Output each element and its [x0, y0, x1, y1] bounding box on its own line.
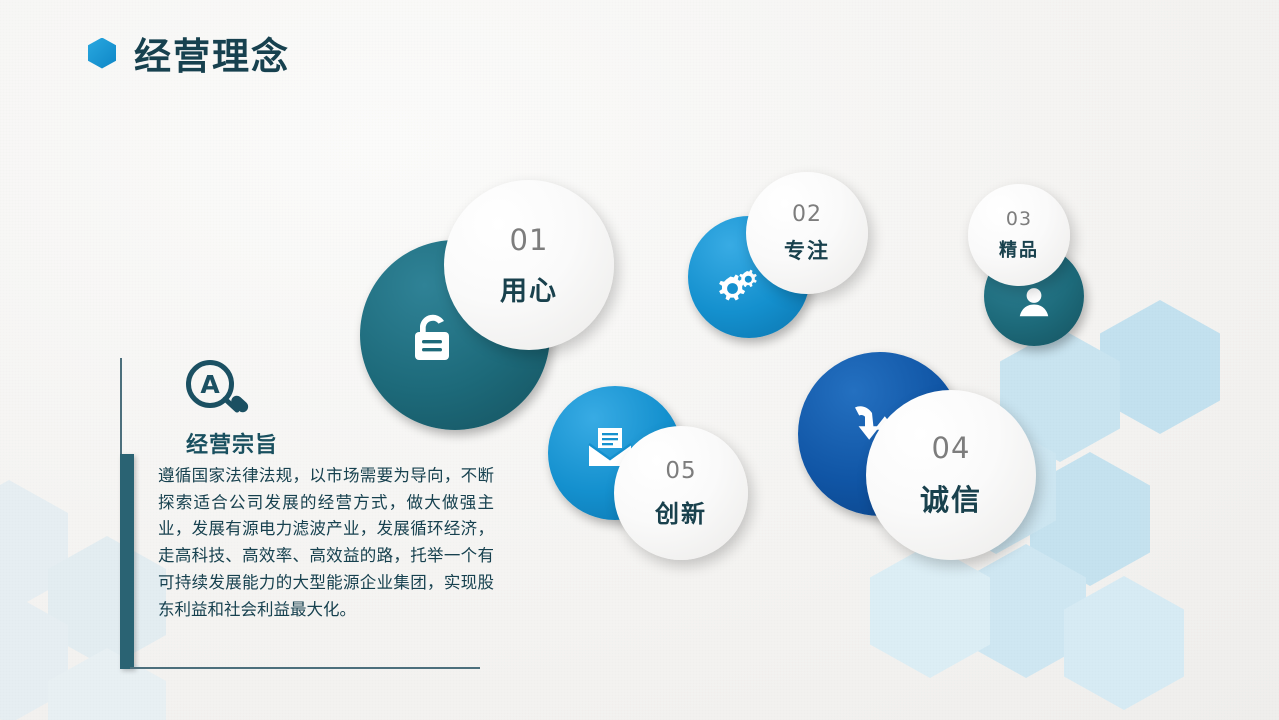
gears-icon	[714, 267, 758, 309]
node-02-number: 02	[792, 202, 822, 227]
node-05[interactable]: 05 创新	[548, 386, 748, 561]
node-03[interactable]: 03 精品	[968, 184, 1088, 344]
hexagon-shape	[48, 648, 166, 720]
page-title: 经营理念	[134, 26, 290, 80]
slide-canvas: 经营理念 01 用心	[0, 0, 1279, 720]
node-05-label-disc[interactable]: 05 创新	[614, 426, 748, 560]
purpose-body-text: 遵循国家法律法规，以市场需要为导向，不断探索适合公司发展的经营方式，做大做强主业…	[158, 463, 494, 623]
hexagon-bullet-icon	[88, 38, 116, 69]
node-03-label: 精品	[999, 236, 1039, 262]
node-01-label-disc[interactable]: 01 用心	[444, 180, 614, 350]
node-04-number: 04	[932, 431, 971, 465]
user-icon	[1018, 285, 1050, 319]
magnifier-a-icon: A	[180, 358, 256, 420]
node-04-label: 诚信	[920, 477, 982, 519]
hexagon-shape	[1100, 300, 1220, 434]
purpose-panel: A 经营宗旨 遵循国家法律法规，以市场需要为导向，不断探索适合公司发展的经营方式…	[120, 358, 498, 623]
purpose-subtitle: 经营宗旨	[186, 427, 498, 459]
node-05-number: 05	[665, 458, 696, 484]
svg-text:A: A	[200, 370, 220, 399]
node-01-label: 用心	[500, 269, 558, 308]
node-04[interactable]: 04 诚信	[798, 352, 1038, 552]
node-03-number: 03	[1006, 208, 1032, 230]
node-05-label: 创新	[655, 494, 707, 529]
hexagon-shape	[1030, 452, 1150, 586]
hexagon-shape	[0, 480, 68, 612]
node-02-label-disc[interactable]: 02 专注	[746, 172, 868, 294]
panel-bottom-rule	[130, 667, 480, 669]
node-02[interactable]: 02 专注	[688, 172, 868, 337]
node-02-label: 专注	[784, 235, 830, 265]
hexagon-shape	[0, 592, 68, 720]
hexagon-shape	[870, 544, 990, 678]
hexagon-pattern-right	[1000, 300, 1279, 720]
page-header: 经营理念	[88, 26, 290, 80]
node-03-label-disc[interactable]: 03 精品	[968, 184, 1070, 286]
node-04-label-disc[interactable]: 04 诚信	[866, 390, 1036, 560]
node-01-number: 01	[510, 223, 549, 257]
hexagon-shape	[1064, 576, 1184, 710]
hexagon-shape	[966, 544, 1086, 678]
